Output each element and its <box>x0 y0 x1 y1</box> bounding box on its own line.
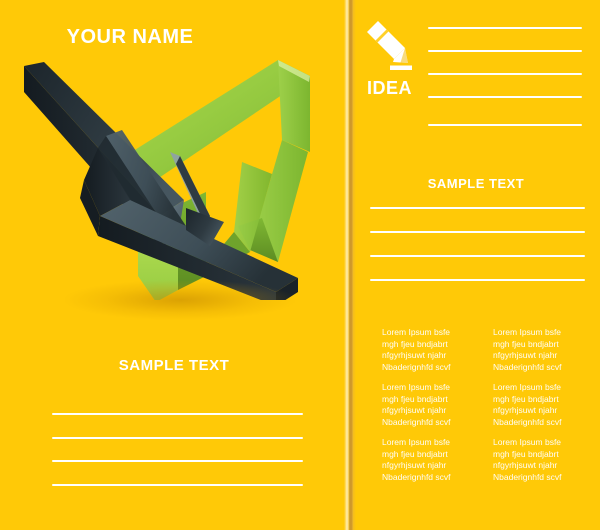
right-mid-rule-1 <box>370 207 585 209</box>
lorem-line: Nbaderignhfd scvf <box>382 362 451 374</box>
right-mid-rule-2 <box>370 231 585 233</box>
right-top-rule-1 <box>428 27 582 29</box>
right-top-rule-2 <box>428 50 582 52</box>
logo-artwork <box>10 40 322 300</box>
lorem-line: Nbaderignhfd scvf <box>382 472 451 484</box>
lorem-line: Nbaderignhfd scvf <box>493 417 562 429</box>
brand-logo <box>10 40 322 300</box>
lorem-block: Lorem Ipsum bsfe mgh fjeu bndjabrt nfgyr… <box>382 327 451 373</box>
lorem-line: Lorem Ipsum bsfe <box>493 382 562 394</box>
left-rule-3 <box>52 460 303 462</box>
right-top-rule-4 <box>428 96 582 98</box>
lorem-line: nfgyrhjsuwt njahr <box>382 460 451 472</box>
lorem-line: mgh fjeu bndjabrt <box>382 394 451 406</box>
lorem-block: Lorem Ipsum bsfe mgh fjeu bndjabrt nfgyr… <box>493 327 562 373</box>
right-mid-rule-4 <box>370 279 585 281</box>
right-top-rule-5 <box>428 124 582 126</box>
lorem-line: mgh fjeu bndjabrt <box>493 394 562 406</box>
lorem-block: Lorem Ipsum bsfe mgh fjeu bndjabrt nfgyr… <box>493 437 562 483</box>
lorem-line: Nbaderignhfd scvf <box>493 472 562 484</box>
lorem-block: Lorem Ipsum bsfe mgh fjeu bndjabrt nfgyr… <box>382 437 451 483</box>
lorem-line: mgh fjeu bndjabrt <box>493 449 562 461</box>
lorem-line: Lorem Ipsum bsfe <box>382 382 451 394</box>
lorem-line: Lorem Ipsum bsfe <box>493 437 562 449</box>
lorem-line: Nbaderignhfd scvf <box>382 417 451 429</box>
lorem-block: Lorem Ipsum bsfe mgh fjeu bndjabrt nfgyr… <box>493 382 562 428</box>
left-sample-heading: SAMPLE TEXT <box>0 357 348 374</box>
right-sample-heading: SAMPLE TEXT <box>352 176 600 191</box>
lorem-line: Lorem Ipsum bsfe <box>382 327 451 339</box>
idea-label: IDEA <box>367 78 412 99</box>
left-rule-1 <box>52 413 303 415</box>
lorem-line: nfgyrhjsuwt njahr <box>493 460 562 472</box>
logo-drop-shadow <box>65 280 295 320</box>
lorem-line: nfgyrhjsuwt njahr <box>382 350 451 362</box>
pencil-icon <box>364 18 418 76</box>
left-rule-4 <box>52 484 303 486</box>
lorem-line: Nbaderignhfd scvf <box>493 362 562 374</box>
right-top-rule-3 <box>428 73 582 75</box>
lorem-line: mgh fjeu bndjabrt <box>382 339 451 351</box>
left-rule-2 <box>52 437 303 439</box>
lorem-line: nfgyrhjsuwt njahr <box>382 405 451 417</box>
lorem-block: Lorem Ipsum bsfe mgh fjeu bndjabrt nfgyr… <box>382 382 451 428</box>
lorem-line: Lorem Ipsum bsfe <box>382 437 451 449</box>
panel-divider-edge <box>353 0 356 530</box>
lorem-line: nfgyrhjsuwt njahr <box>493 405 562 417</box>
lorem-line: mgh fjeu bndjabrt <box>382 449 451 461</box>
lorem-line: mgh fjeu bndjabrt <box>493 339 562 351</box>
lorem-line: nfgyrhjsuwt njahr <box>493 350 562 362</box>
right-mid-rule-3 <box>370 255 585 257</box>
lorem-line: Lorem Ipsum bsfe <box>493 327 562 339</box>
poster-canvas: YOUR NAME <box>0 0 600 530</box>
